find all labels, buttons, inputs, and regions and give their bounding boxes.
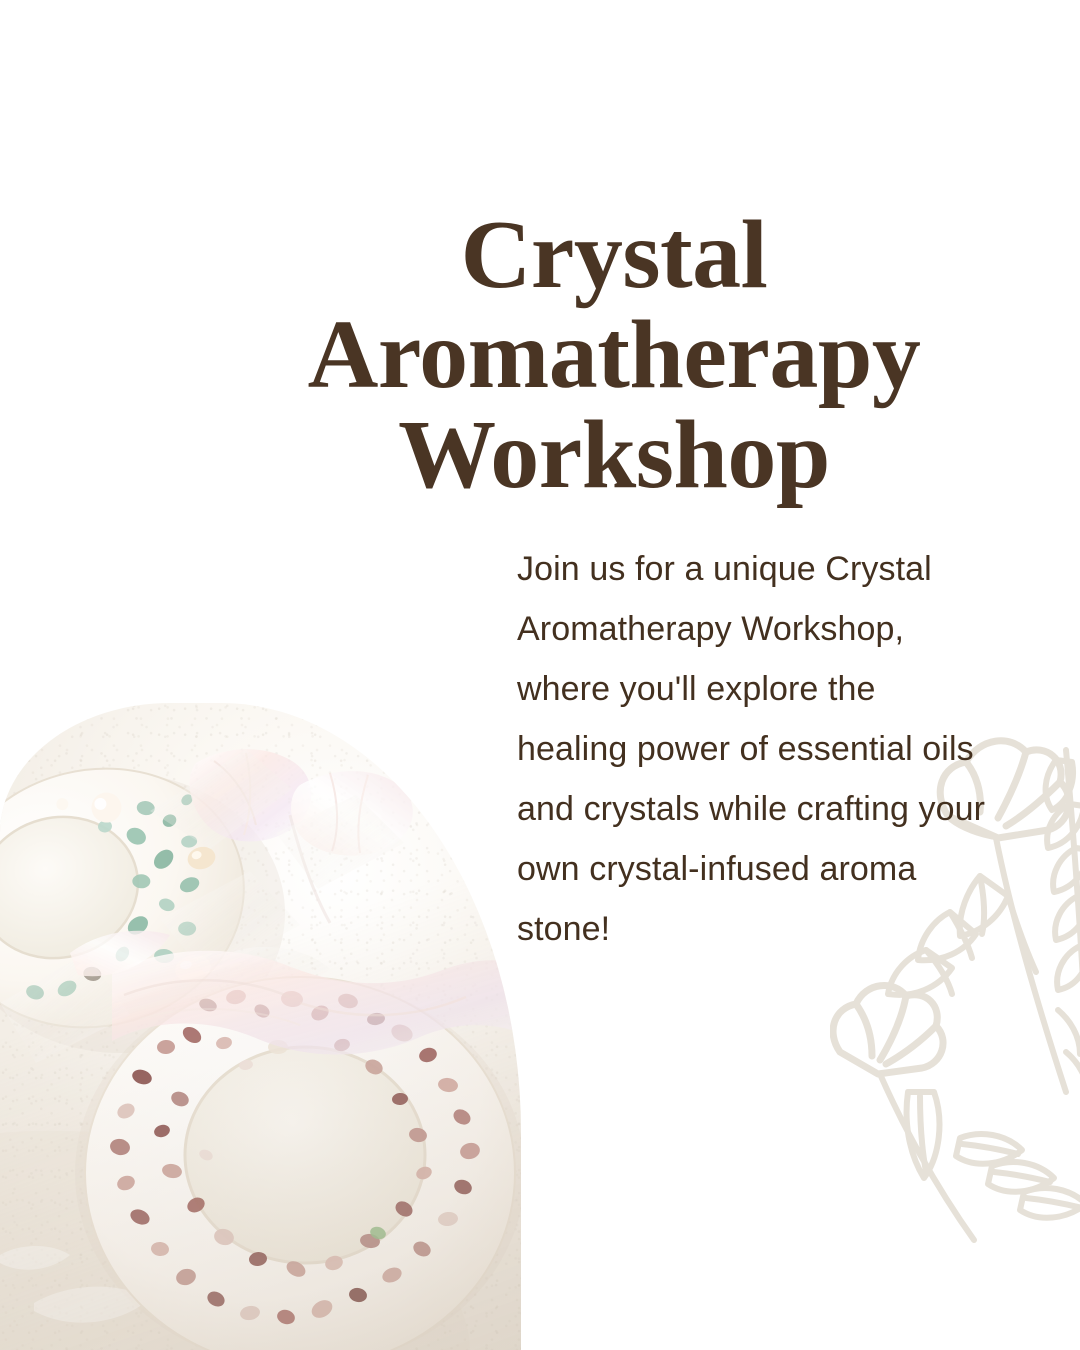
title-line-1: Crystal [250, 206, 978, 306]
crystal-aroma-stones-photo [0, 703, 521, 1350]
title-line-3: Workshop [250, 406, 978, 506]
poppy-flower-lower-icon [833, 986, 943, 1074]
wheat-tip-right-edge [1058, 1010, 1080, 1096]
wheat-sprig-right [1046, 750, 1080, 1040]
title-line-2: Aromatherapy [250, 306, 978, 406]
poppy-stem-lower [880, 1074, 974, 1240]
page-title: Crystal Aromatherapy Workshop [250, 206, 978, 506]
description-paragraph: Join us for a unique Crystal Aromatherap… [517, 539, 987, 959]
photo-vignette [0, 703, 521, 1350]
leaf-spray-lower [956, 1134, 1080, 1218]
poster-canvas: Crystal Aromatherapy Workshop Join us fo… [0, 0, 1080, 1350]
poppy-stem-upper [996, 838, 1066, 1092]
